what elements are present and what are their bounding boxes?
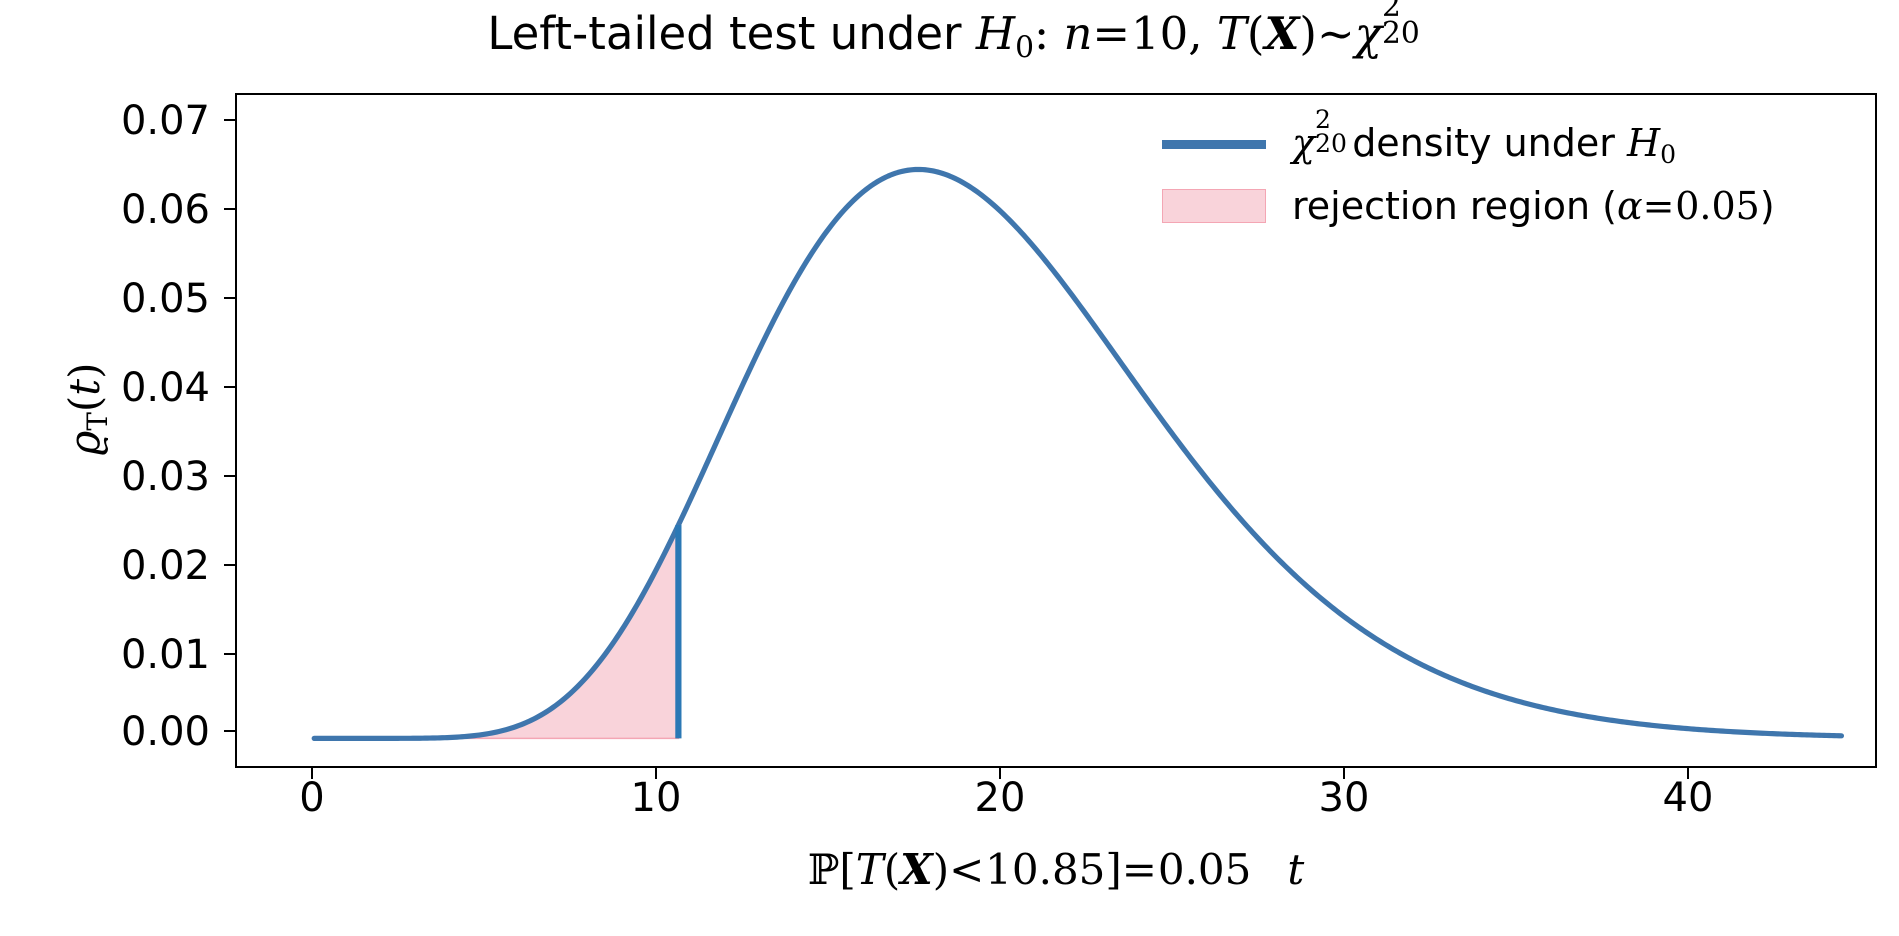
title-paren-close: ) [1299,7,1317,60]
title-comma: , [1188,7,1217,60]
y-tick-mark-0.06 [224,208,235,210]
x-tick-label-40: 40 [1628,775,1748,821]
legend-paren-close: ) [1760,184,1775,228]
y-tick-mark-0.04 [224,386,235,388]
legend-alpha-equals: = [1643,184,1676,228]
y-tick-mark-0.05 [224,297,235,299]
y-axis-label-rho: ϱ [60,431,109,456]
legend-density-text: density under [1340,121,1627,165]
x-tick-label-10: 10 [596,775,716,821]
title-n-equals: = [1092,7,1131,60]
title-text-prefix: Left-tailed test under [487,7,976,60]
y-tick-mark-0.07 [224,119,235,121]
x-axis-prob-statistic: T [856,845,884,894]
chart-title: Left-tailed test under H0: n=10, T(X)~χ2… [0,4,1899,66]
x-axis-prob-bracket-close: ] [1105,845,1121,894]
x-tick-mark-10 [655,768,657,779]
title-chi-indices: 220 [1382,4,1412,49]
legend-chi-indices: 220 [1315,118,1340,156]
title-h0-subscript: 0 [1015,30,1034,65]
x-axis-variable: t [1287,845,1304,894]
x-tick-mark-30 [1343,768,1345,779]
y-tick-label-0.00: 0.00 [10,709,210,755]
x-axis-prob-paren-open: ( [884,845,900,894]
x-axis-prob-alpha-value: 0.05 [1158,845,1252,894]
title-n-value: 10 [1131,7,1188,60]
y-tick-mark-0.00 [224,730,235,732]
y-tick-label-0.04: 0.04 [10,365,210,411]
x-tick-label-20: 20 [940,775,1060,821]
title-colon: : [1034,7,1063,60]
title-h0-symbol: H [976,7,1015,60]
legend-chi-subscript: 20 [1315,129,1347,158]
title-chi-subscript: 20 [1382,16,1420,52]
legend-line-swatch-icon [1162,140,1266,149]
x-tick-mark-20 [999,768,1001,779]
title-n-symbol: n [1063,7,1092,60]
y-tick-label-0.02: 0.02 [10,543,210,589]
title-statistic-symbol: T [1217,7,1247,60]
x-tick-mark-40 [1687,768,1689,779]
x-axis-prob-less-than: < [949,845,985,894]
y-tick-label-0.03: 0.03 [10,454,210,500]
legend-rejection-text: rejection region ( [1292,184,1617,228]
y-tick-mark-0.03 [224,475,235,477]
chi-squared-density-curve [314,169,1841,738]
legend-h0-symbol: H [1627,121,1660,165]
title-paren-open: ( [1247,7,1265,60]
chart-legend: χ220 density under H0 rejection region (… [1147,98,1873,254]
y-tick-label-0.01: 0.01 [10,632,210,678]
legend-label-density: χ220 density under H0 [1292,118,1676,169]
legend-patch-swatch-icon [1162,189,1266,223]
x-axis-prob-equals: = [1122,845,1158,894]
y-tick-mark-0.01 [224,653,235,655]
title-sample-vector: X [1264,7,1299,60]
x-tick-label-30: 30 [1284,775,1404,821]
chart-figure: Left-tailed test under H0: n=10, T(X)~χ2… [0,0,1899,936]
y-axis-label-subscript: T [81,412,114,431]
x-axis-prob-bracket-open: [ [839,845,855,894]
legend-alpha-symbol: α [1617,184,1643,228]
legend-h0-subscript: 0 [1660,141,1676,170]
x-tick-mark-0 [311,768,313,779]
legend-alpha-value: 0.05 [1675,184,1760,228]
legend-item-rejection-region[interactable]: rejection region (α=0.05) [1162,175,1856,237]
x-axis-prob-P: ℙ [808,845,840,894]
legend-chi-symbol: χ [1292,121,1315,165]
y-tick-mark-0.02 [224,564,235,566]
y-tick-label-0.06: 0.06 [10,187,210,233]
x-axis-prob-sample-vector: X [900,845,933,894]
x-axis-prob-paren-close: ) [933,845,949,894]
y-tick-label-0.07: 0.07 [10,98,210,144]
x-axis-prob-critical-value: 10.85 [985,845,1105,894]
rejection-region-shape [314,525,678,738]
legend-item-density[interactable]: χ220 density under H0 [1162,113,1856,175]
x-axis-label: ℙ[T(X)<10.85]=0.05t [235,845,1877,894]
legend-label-rejection-region: rejection region (α=0.05) [1292,184,1775,228]
x-tick-label-0: 0 [252,775,372,821]
y-tick-label-0.05: 0.05 [10,276,210,322]
title-distributed-as: ~ [1317,7,1355,60]
title-chi-symbol: χ [1355,7,1382,60]
